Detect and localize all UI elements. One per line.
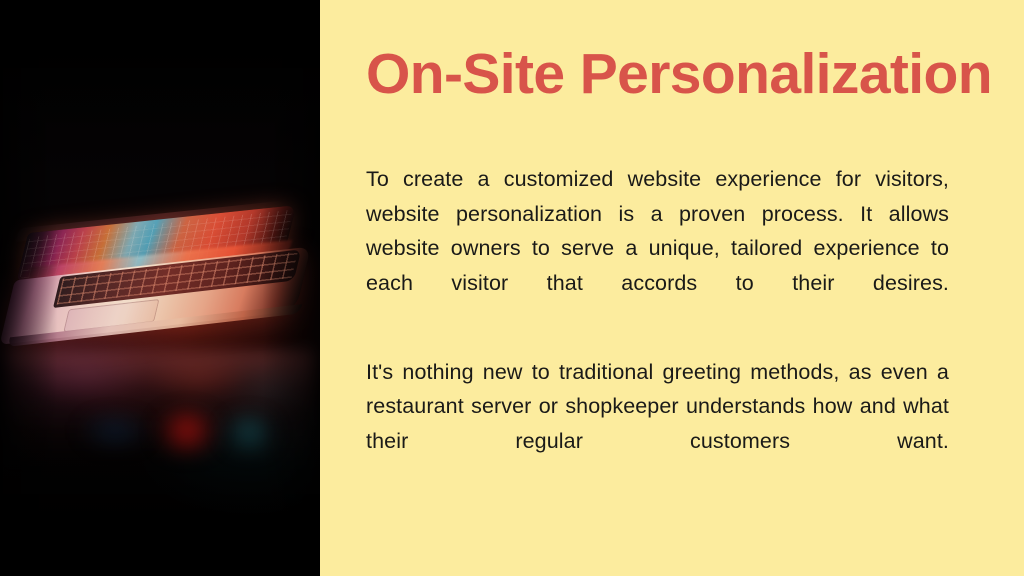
teal-bounce-light bbox=[218, 414, 280, 452]
paragraph-1: To create a customized website experienc… bbox=[366, 162, 949, 335]
red-bounce-light bbox=[150, 410, 224, 454]
blue-bounce-light bbox=[70, 418, 160, 444]
slide-title: On-Site Personalization bbox=[366, 44, 966, 104]
laptop-reflection bbox=[4, 350, 316, 470]
body-copy: To create a customized website experienc… bbox=[366, 162, 949, 493]
paragraph-2: It's nothing new to traditional greeting… bbox=[366, 355, 949, 493]
content-panel: On-Site Personalization To create a cust… bbox=[320, 0, 1024, 576]
hero-image-panel bbox=[0, 0, 320, 576]
slide: On-Site Personalization To create a cust… bbox=[0, 0, 1024, 576]
